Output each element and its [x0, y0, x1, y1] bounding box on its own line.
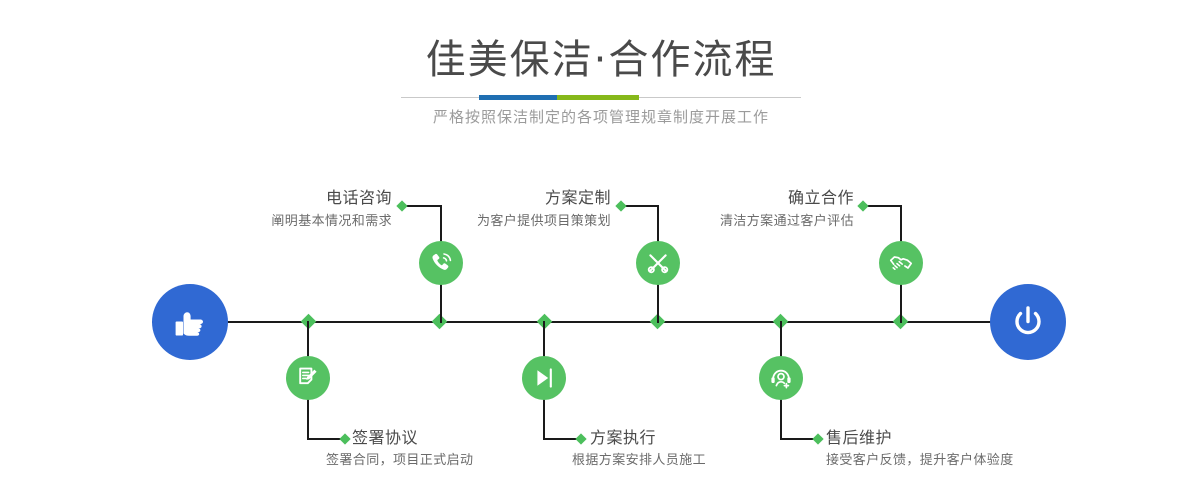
step-3-tip-marker	[615, 200, 626, 211]
step-4-title: 方案执行	[590, 428, 656, 448]
start-endpoint[interactable]	[152, 284, 228, 360]
scissors-pencil-icon	[645, 250, 671, 276]
document-edit-icon	[295, 365, 321, 391]
step-5-desc: 清洁方案通过客户评估	[620, 213, 854, 231]
step-2-title: 签署协议	[352, 428, 418, 448]
step-6-title: 售后维护	[826, 428, 892, 448]
page-title: 佳美保洁·合作流程	[0, 36, 1202, 84]
end-endpoint[interactable]	[990, 284, 1066, 360]
step-5-title: 确立合作	[650, 188, 854, 208]
phone-call-icon	[428, 250, 454, 276]
step-2-icon-badge[interactable]	[286, 356, 330, 400]
divider-green-segment	[557, 95, 639, 100]
step-5-icon-badge[interactable]	[879, 241, 923, 285]
divider-blue-segment	[479, 95, 557, 100]
step-1-title: 电话咨询	[170, 188, 392, 208]
step-6-icon-badge[interactable]	[759, 356, 803, 400]
step-2-tip-marker	[339, 433, 350, 444]
step-5-tip-marker	[857, 200, 868, 211]
step-3-desc: 为客户提供项目策策划	[380, 213, 611, 231]
step-3-title: 方案定制	[400, 188, 611, 208]
pointing-hand-icon	[169, 301, 211, 343]
step-6-desc: 接受客户反馈，提升客户体验度	[826, 452, 1014, 470]
power-icon	[1007, 301, 1049, 343]
step-6-tip-marker	[812, 433, 823, 444]
timeline-axis	[152, 321, 1050, 323]
step-2-desc: 签署合同，项目正式启动	[326, 452, 473, 470]
step-1-desc: 阐明基本情况和需求	[150, 213, 392, 231]
page-subtitle: 严格按照保洁制定的各项管理规章制度开展工作	[0, 106, 1202, 128]
play-execute-icon	[531, 365, 557, 391]
headset-support-icon	[768, 365, 794, 391]
flow-diagram-page: 佳美保洁·合作流程 严格按照保洁制定的各项管理规章制度开展工作	[0, 0, 1202, 502]
step-4-desc: 根据方案安排人员施工	[572, 452, 706, 470]
step-5-connector-horizontal	[865, 205, 902, 207]
step-4-icon-badge[interactable]	[522, 356, 566, 400]
step-3-icon-badge[interactable]	[636, 241, 680, 285]
step-4-tip-marker	[575, 433, 586, 444]
title-divider	[401, 95, 801, 101]
handshake-icon	[888, 250, 914, 276]
step-1-icon-badge[interactable]	[419, 241, 463, 285]
